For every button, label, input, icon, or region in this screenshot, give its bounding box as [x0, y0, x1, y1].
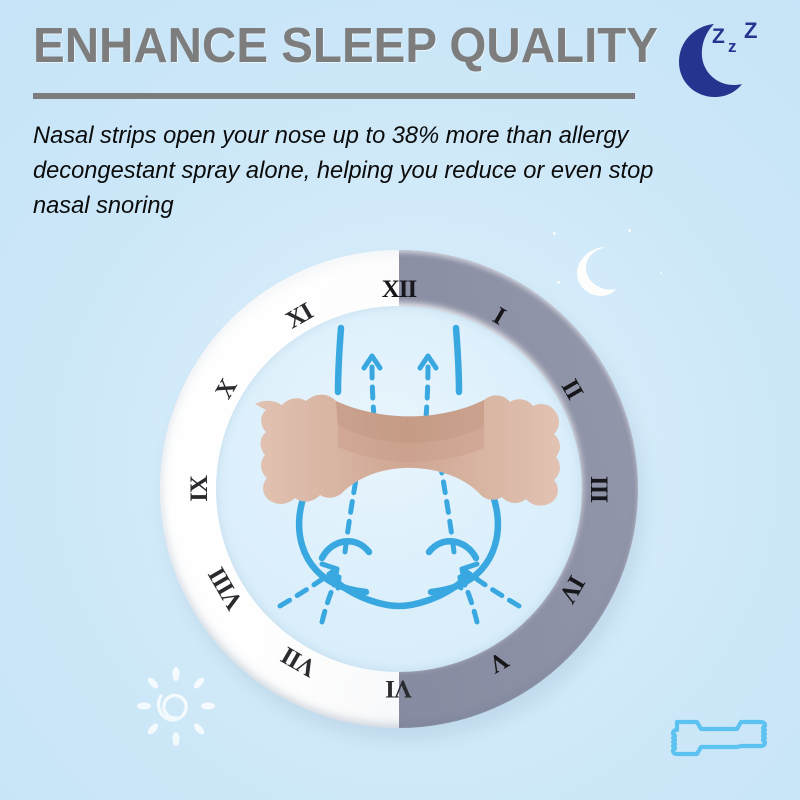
z-large-left: Z [712, 26, 725, 47]
sleeping-moon-icon: Z Z z [668, 16, 774, 100]
nasal-strip-outline-icon [667, 714, 771, 762]
star-decoration [628, 229, 631, 232]
z-small-middle: z [728, 38, 737, 55]
header: ENHANCE SLEEP QUALITY Z Z z [0, 0, 800, 112]
star-decoration [553, 232, 556, 235]
body-paragraph: Nasal strips open your nose up to 38% mo… [33, 118, 681, 223]
z-large-right: Z [744, 20, 757, 42]
star-decoration [660, 272, 662, 274]
roman-numeral-clock-dial: XII I II III IV V VI VII VIII IX X [160, 250, 638, 728]
poster-root: ENHANCE SLEEP QUALITY Z Z z Nasal strips… [0, 0, 800, 800]
header-divider [33, 93, 635, 99]
nasal-strip-on-nose [216, 306, 582, 672]
page-title: ENHANCE SLEEP QUALITY [33, 22, 658, 71]
